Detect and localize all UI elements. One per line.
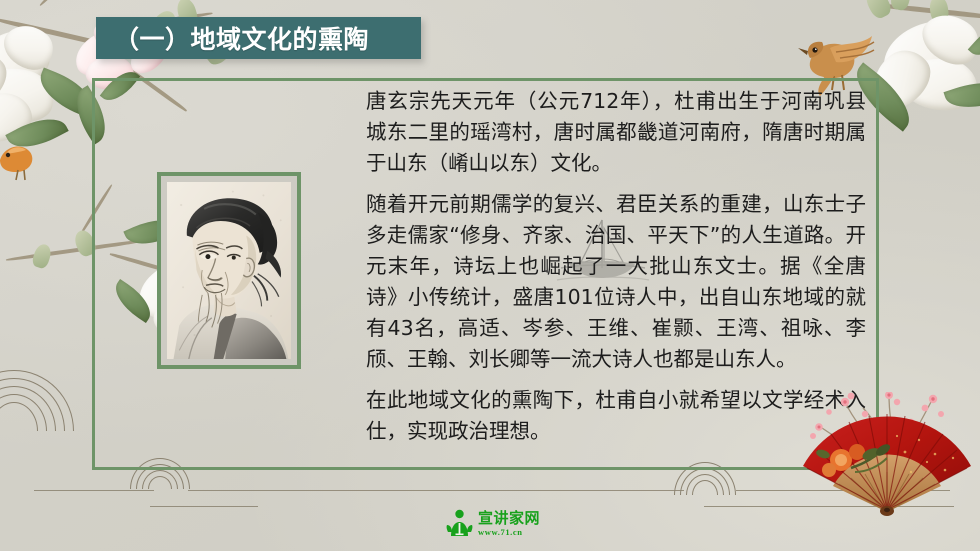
section-title-bar: （一）地域文化的熏陶	[96, 17, 421, 59]
site-logo: 宣讲家网 www.71.cn	[446, 506, 558, 542]
decoration-rule-left	[34, 490, 154, 491]
body-text-block: 唐玄宗先天元年（公元712年），杜甫出生于河南巩县城东二里的瑶湾村，唐时属都畿道…	[366, 86, 866, 447]
du-fu-portrait-image	[167, 182, 291, 359]
small-orange-bird-icon	[0, 130, 54, 184]
decoration-rule-lower-right	[704, 506, 954, 507]
portrait-frame	[157, 172, 301, 369]
decoration-rule-mid	[188, 490, 684, 491]
paragraph-3: 在此地域文化的熏陶下，杜甫自小就希望以文学经术入仕，实现政治理想。	[366, 385, 866, 447]
logo-site-name: 宣讲家网	[478, 511, 540, 526]
page-title: （一）地域文化的熏陶	[96, 20, 369, 56]
decoration-rule-lower-left	[150, 506, 258, 507]
logo-wordmark: 宣讲家网 www.71.cn	[478, 511, 540, 537]
decoration-wave-arcs-left	[0, 370, 74, 450]
logo-site-url: www.71.cn	[478, 528, 540, 537]
decoration-rule-right	[736, 490, 950, 491]
slide-canvas: （一）地域文化的熏陶	[0, 0, 980, 551]
speaker-at-podium-icon	[446, 509, 474, 539]
decoration-top-right-magnolia	[868, 0, 980, 176]
paragraph-1: 唐玄宗先天元年（公元712年），杜甫出生于河南巩县城东二里的瑶湾村，唐时属都畿道…	[366, 86, 866, 179]
paragraph-2: 随着开元前期儒学的复兴、君臣关系的重建，山东士子多走儒家“修身、齐家、治国、平天…	[366, 189, 866, 375]
